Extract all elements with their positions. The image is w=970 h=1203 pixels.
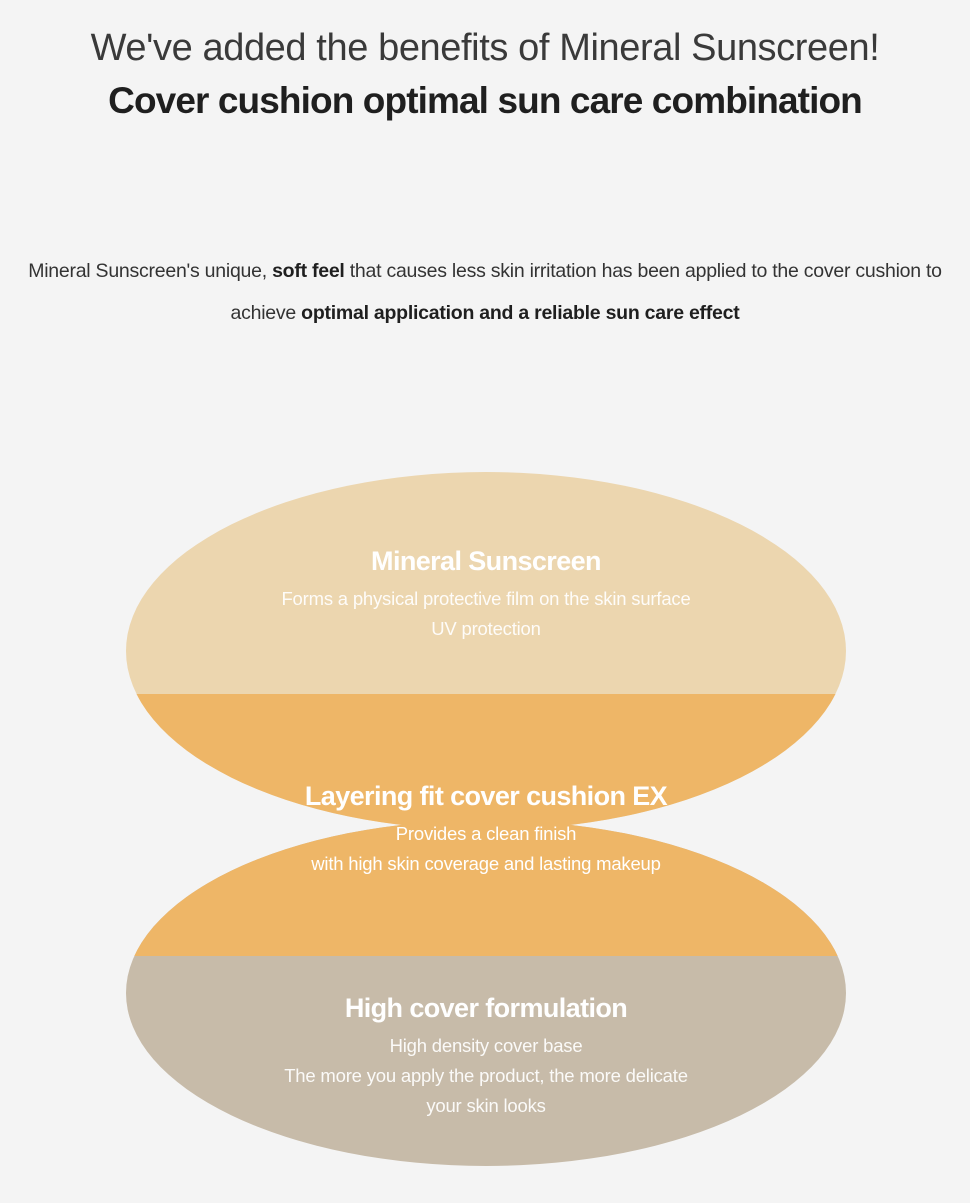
venn-label-high-cover-formulation: High cover formulation High density cove… [126, 991, 846, 1121]
page-title-subtitle: We've added the benefits of Mineral Suns… [0, 22, 970, 74]
lead-text-part-1: Mineral Sunscreen's unique, [28, 260, 272, 282]
venn-label-overlap-title: Layering fit cover cushion EX [126, 779, 846, 813]
page-header: We've added the benefits of Mineral Suns… [0, 22, 970, 128]
venn-label-layering-fit-cover-cushion-ex: Layering fit cover cushion EX Provides a… [126, 779, 846, 879]
lead-emphasis-2: optimal application and a reliable sun c… [301, 302, 739, 324]
lead-paragraph: Mineral Sunscreen's unique, soft feel th… [0, 250, 970, 334]
venn-label-mineral-sunscreen: Mineral Sunscreen Forms a physical prote… [126, 544, 846, 644]
page-title: Cover cushion optimal sun care combinati… [0, 74, 970, 128]
venn-label-overlap-description: Provides a clean finish with high skin c… [126, 819, 846, 879]
venn-label-mineral-sunscreen-title: Mineral Sunscreen [126, 544, 846, 578]
venn-label-high-cover-formulation-title: High cover formulation [126, 991, 846, 1025]
lead-emphasis-1: soft feel [272, 260, 345, 282]
page-root: We've added the benefits of Mineral Suns… [0, 0, 970, 1203]
venn-label-high-cover-formulation-description: High density cover base The more you app… [126, 1031, 846, 1121]
venn-diagram: Mineral Sunscreen Forms a physical prote… [126, 472, 846, 1166]
venn-label-mineral-sunscreen-description: Forms a physical protective film on the … [126, 584, 846, 644]
